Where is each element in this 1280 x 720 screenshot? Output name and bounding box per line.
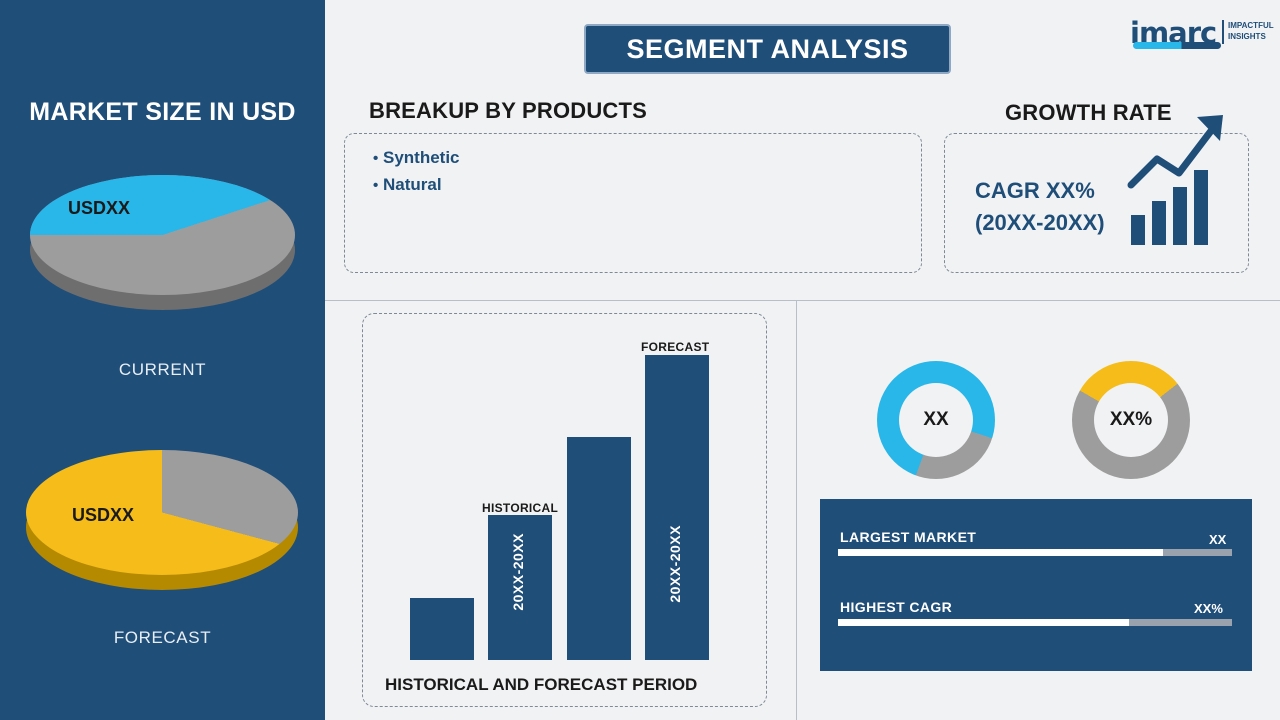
chart-bar-2: [567, 437, 631, 660]
cagr-line2: (20XX-20XX): [975, 207, 1105, 239]
chart-bar-3: 20XX-20XX: [645, 355, 709, 660]
current-pie-label: CURRENT: [0, 360, 325, 380]
left-panel-title: MARKET SIZE IN USD: [0, 98, 325, 127]
largest-market-value: XX: [1209, 532, 1226, 547]
logo-separator: [1222, 20, 1224, 44]
logo-tagline-line2: INSIGHTS: [1228, 31, 1274, 42]
logo-tagline: IMPACTFUL INSIGHTS: [1228, 20, 1274, 42]
growth-rate-bar-icon: [1125, 145, 1230, 245]
left-panel: MARKET SIZE IN USD USDXX CURRENT USDXX F…: [0, 0, 325, 720]
current-pie-value: USDXX: [68, 198, 130, 219]
growth-arrow-icon: [1125, 107, 1230, 207]
highest-cagr-label: HIGHEST CAGR: [840, 599, 952, 615]
bullet-icon: •: [373, 177, 378, 194]
chart-footer-label: HISTORICAL AND FORECAST PERIOD: [385, 675, 1265, 695]
donut-chart-1-value: XX%: [1094, 383, 1168, 457]
breakup-item-0: • Synthetic: [373, 148, 921, 168]
imarc-logo: imarc IMPACTFUL INSIGHTS: [1130, 14, 1270, 52]
logo-tagline-line1: IMPACTFUL: [1228, 20, 1274, 31]
horizontal-divider: [325, 300, 1280, 301]
forecast-pie-value: USDXX: [72, 505, 134, 526]
breakup-item-1-label: Natural: [383, 175, 442, 194]
breakup-heading: BREAKUP BY PRODUCTS: [369, 98, 647, 124]
segment-analysis-infographic: MARKET SIZE IN USD USDXX CURRENT USDXX F…: [0, 0, 1280, 720]
breakup-item-1: • Natural: [373, 175, 921, 195]
cagr-line1: CAGR XX%: [975, 175, 1105, 207]
vertical-divider: [796, 300, 797, 720]
largest-market-fill: [838, 549, 1163, 556]
logo-swoosh-icon: [1133, 42, 1221, 49]
cagr-text: CAGR XX% (20XX-20XX): [975, 175, 1105, 239]
chart-bar-1-label: 20XX-20XX: [510, 533, 526, 611]
bullet-icon: •: [373, 150, 378, 167]
largest-market-label: LARGEST MARKET: [840, 529, 976, 545]
donut-chart-0-value: XX: [899, 383, 973, 457]
highest-cagr-value: XX%: [1194, 601, 1223, 616]
market-summary-card: LARGEST MARKET XX HIGHEST CAGR XX%: [820, 499, 1252, 671]
highest-cagr-fill: [838, 619, 1129, 626]
breakup-box: • Synthetic • Natural: [344, 133, 922, 273]
donut-chart-0: XX: [877, 361, 995, 479]
forecast-pie-label: FORECAST: [0, 628, 325, 648]
page-title: SEGMENT ANALYSIS: [584, 24, 951, 74]
forecast-annotation: FORECAST: [641, 340, 709, 354]
donut-chart-1: XX%: [1072, 361, 1190, 479]
chart-bar-3-label: 20XX-20XX: [667, 525, 683, 603]
breakup-item-0-label: Synthetic: [383, 148, 460, 167]
historical-annotation: HISTORICAL: [482, 501, 558, 515]
chart-bar-0: [410, 598, 474, 660]
chart-bar-1: 20XX-20XX: [488, 515, 552, 660]
